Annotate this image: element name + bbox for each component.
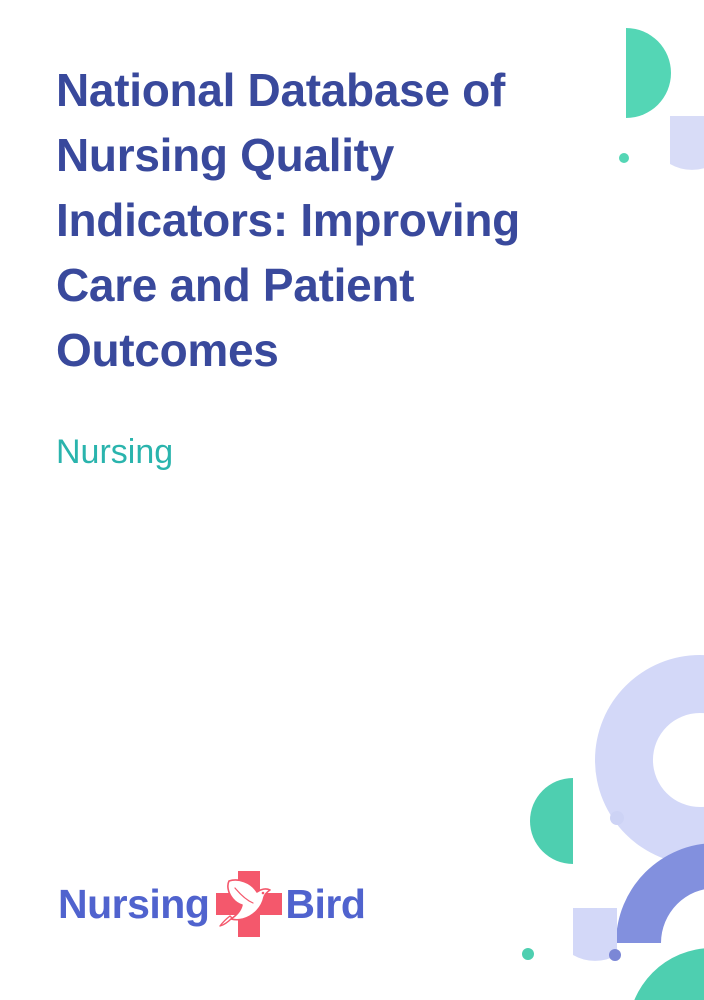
logo-word-nursing: Nursing	[58, 884, 209, 925]
dove-on-medical-cross-icon	[213, 868, 285, 940]
brand-logo: Nursing Bird	[58, 876, 365, 932]
cover-content: National Database of Nursing Quality Ind…	[0, 0, 704, 1000]
logo-word-bird: Bird	[285, 884, 365, 925]
subject-label: Nursing	[56, 430, 173, 474]
page-title: National Database of Nursing Quality Ind…	[56, 58, 616, 383]
cover-page: National Database of Nursing Quality Ind…	[0, 0, 704, 1000]
